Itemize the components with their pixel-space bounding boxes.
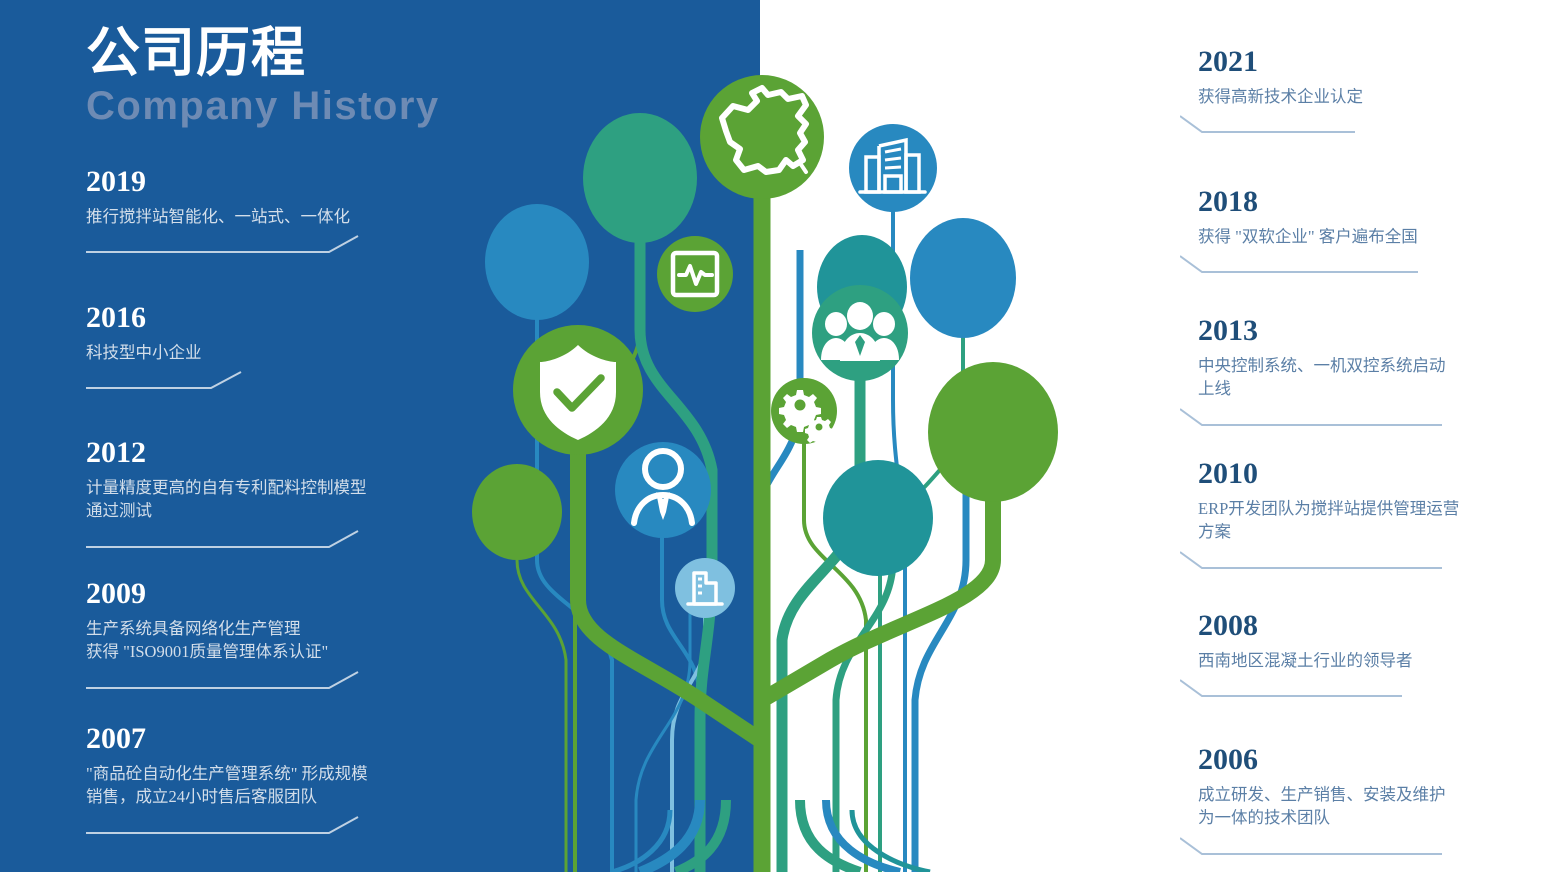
slide-canvas: Company History 公司历程 2019 推行搅拌站智能化、一站式、一… <box>0 0 1554 872</box>
entry-description: 西南地区混凝土行业的领导者 <box>1198 649 1460 673</box>
timeline-entry-2016[interactable]: 2016 科技型中小企业 <box>86 302 376 392</box>
entry-description: 生产系统具备网络化生产管理 获得 "ISO9001质量管理体系认证" <box>86 617 376 665</box>
entry-description: 获得 "双软企业" 客户遍布全国 <box>1198 225 1488 249</box>
timeline-entry-2008[interactable]: 2008 西南地区混凝土行业的领导者 <box>1198 610 1460 700</box>
entry-year: 2006 <box>1198 744 1460 776</box>
team-people-icon <box>812 285 908 381</box>
china-map-icon <box>700 75 824 199</box>
entry-year: 2007 <box>86 723 376 755</box>
gears-icon <box>771 378 837 445</box>
entry-rule <box>86 815 376 837</box>
entry-rule <box>1198 114 1488 136</box>
entry-description: "商品砼自动化生产管理系统" 形成规模销售，成立24小时售后客服团队 <box>86 762 376 810</box>
leaf-circle-green-2 <box>472 464 562 560</box>
entry-description: ERP开发团队为搅拌站提供管理运营方案 <box>1198 497 1460 545</box>
monitor-pulse-icon <box>657 236 733 312</box>
page-title-english: Company History <box>86 86 440 126</box>
timeline-entry-2010[interactable]: 2010 ERP开发团队为搅拌站提供管理运营方案 <box>1198 458 1460 572</box>
entry-year: 2019 <box>86 166 376 198</box>
entry-year: 2012 <box>86 437 376 469</box>
entry-year: 2013 <box>1198 315 1460 347</box>
entry-rule <box>86 529 376 551</box>
entry-rule <box>86 234 376 256</box>
entry-rule <box>1198 678 1460 700</box>
timeline-entry-2018[interactable]: 2018 获得 "双软企业" 客户遍布全国 <box>1198 186 1488 276</box>
timeline-entry-2007[interactable]: 2007 "商品砼自动化生产管理系统" 形成规模销售，成立24小时售后客服团队 <box>86 723 376 837</box>
entry-year: 2008 <box>1198 610 1460 642</box>
leaf-circle-green-1 <box>928 362 1058 502</box>
entry-year: 2010 <box>1198 458 1460 490</box>
leaf-circle-blue-2 <box>910 218 1016 338</box>
timeline-entry-2009[interactable]: 2009 生产系统具备网络化生产管理 获得 "ISO9001质量管理体系认证" <box>86 578 376 692</box>
small-building-icon <box>675 558 735 618</box>
entry-rule <box>86 670 376 692</box>
entry-description: 成立研发、生产销售、安装及维护为一体的技术团队 <box>1198 783 1460 831</box>
entry-description: 推行搅拌站智能化、一站式、一体化 <box>86 205 376 229</box>
page-title-chinese: 公司历程 <box>86 26 306 80</box>
shield-check-icon <box>513 325 643 455</box>
timeline-entry-2012[interactable]: 2012 计量精度更高的自有专利配料控制模型通过测试 <box>86 437 376 551</box>
timeline-entry-2019[interactable]: 2019 推行搅拌站智能化、一站式、一体化 <box>86 166 376 256</box>
timeline-entry-2006[interactable]: 2006 成立研发、生产销售、安装及维护为一体的技术团队 <box>1198 744 1460 858</box>
entry-year: 2016 <box>86 302 376 334</box>
page-title-block: Company History 公司历程 <box>86 26 646 136</box>
office-building-icon <box>849 124 937 212</box>
entry-description: 中央控制系统、一机双控系统启动上线 <box>1198 354 1460 402</box>
entry-description: 科技型中小企业 <box>86 341 376 365</box>
entry-rule <box>86 370 376 392</box>
leaf-circle-blue-1 <box>485 204 589 320</box>
entry-year: 2021 <box>1198 46 1488 78</box>
person-tie-icon <box>615 442 711 538</box>
entry-rule <box>1198 407 1460 429</box>
entry-rule <box>1198 836 1460 858</box>
timeline-entry-2021[interactable]: 2021 获得高新技术企业认定 <box>1198 46 1488 136</box>
entry-year: 2018 <box>1198 186 1488 218</box>
leaf-circle-deepteal-2 <box>823 460 933 576</box>
entry-rule <box>1198 550 1460 572</box>
entry-year: 2009 <box>86 578 376 610</box>
timeline-entry-2013[interactable]: 2013 中央控制系统、一机双控系统启动上线 <box>1198 315 1460 429</box>
entry-description: 获得高新技术企业认定 <box>1198 85 1488 109</box>
entry-rule <box>1198 254 1488 276</box>
entry-description: 计量精度更高的自有专利配料控制模型通过测试 <box>86 476 376 524</box>
